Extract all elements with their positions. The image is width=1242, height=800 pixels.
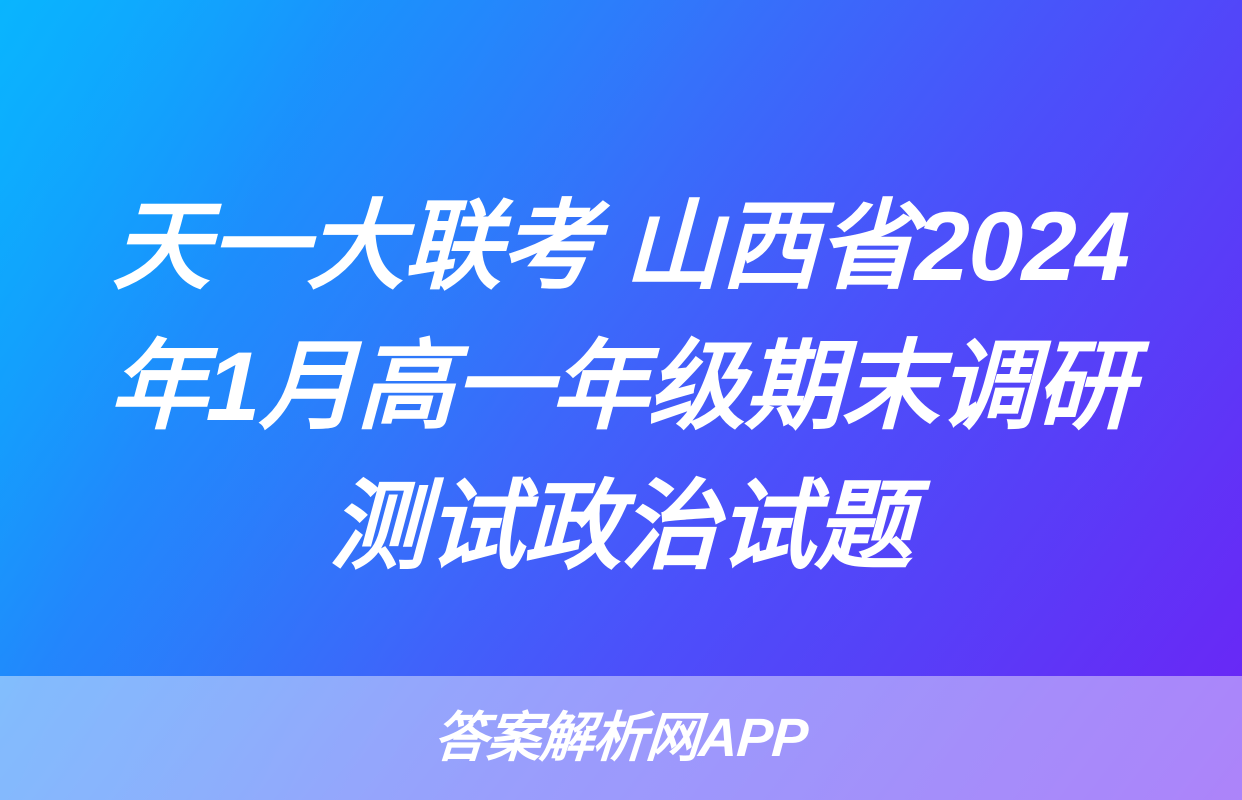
watermark-band: 答案解析网APP (0, 676, 1242, 800)
poster-title: 天一大联考 山西省2024 年1月高一年级期末调研 测试政治试题 (0, 176, 1242, 596)
poster-banner: 天一大联考 山西省2024 年1月高一年级期末调研 测试政治试题 答案解析网AP… (0, 0, 1242, 800)
title-line-1: 天一大联考 山西省2024 (59, 176, 1183, 316)
watermark-label: 答案解析网APP (433, 711, 810, 765)
title-line-2: 年1月高一年级期末调研 (59, 316, 1183, 456)
title-line-3: 测试政治试题 (59, 456, 1183, 596)
